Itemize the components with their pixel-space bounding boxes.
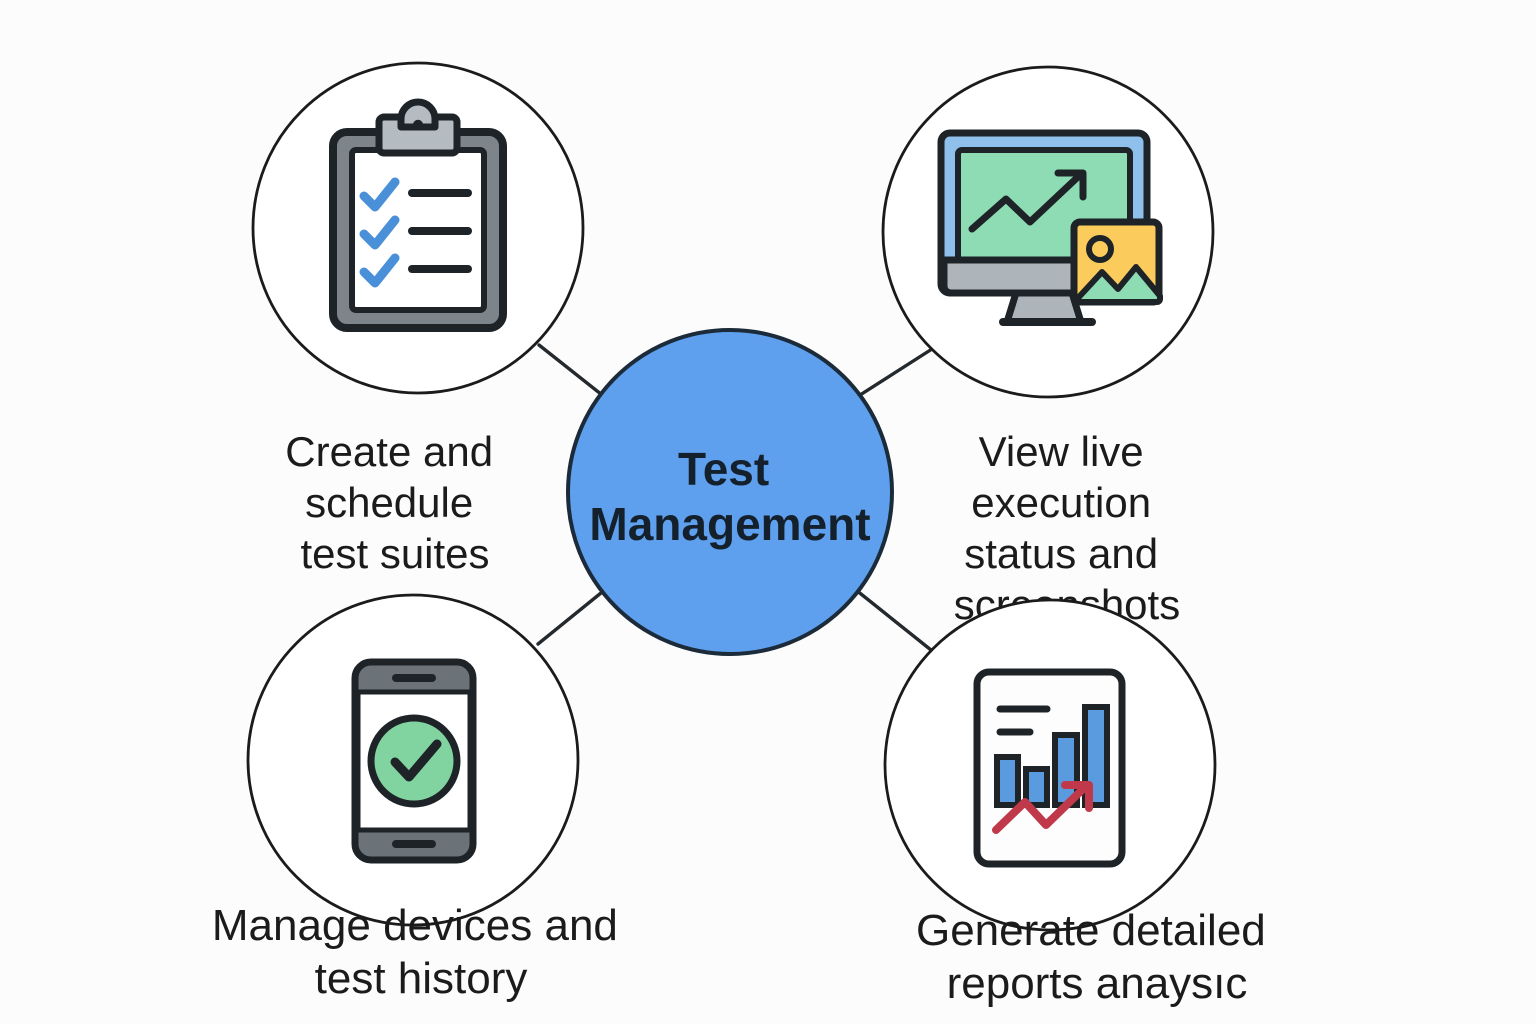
report-bar-chart-icon	[977, 672, 1122, 864]
node-label-generate: Generate detailed reports anaysıc	[916, 906, 1278, 1008]
bar-1	[997, 757, 1018, 805]
image-card-icon	[1074, 222, 1160, 302]
node-manage-devices-test-history[interactable]: Manage devices and test history	[212, 595, 630, 1003]
monitor-screenshot-icon	[941, 133, 1160, 322]
success-check-circle-icon	[371, 718, 457, 804]
bar-2	[1026, 769, 1047, 805]
node-label-manage: Manage devices and test history	[212, 901, 630, 1003]
node-create-schedule-test-suites[interactable]: Create and schedule test suites	[253, 63, 583, 577]
mobile-device-check-icon	[355, 662, 473, 860]
test-management-hub[interactable]: Test Management	[568, 330, 892, 654]
node-label-view: View live execution status and screensho…	[954, 428, 1180, 628]
clipboard-checklist-icon	[333, 102, 503, 328]
node-generate-detailed-reports[interactable]: Generate detailed reports anaysıc	[885, 600, 1278, 1008]
node-view-live-execution-status[interactable]: View live execution status and screensho…	[883, 67, 1213, 628]
test-management-mindmap: Create and schedule test suites	[0, 0, 1536, 1024]
node-label-create: Create and schedule test suites	[285, 428, 504, 577]
diagram-canvas: Create and schedule test suites	[0, 0, 1536, 1024]
